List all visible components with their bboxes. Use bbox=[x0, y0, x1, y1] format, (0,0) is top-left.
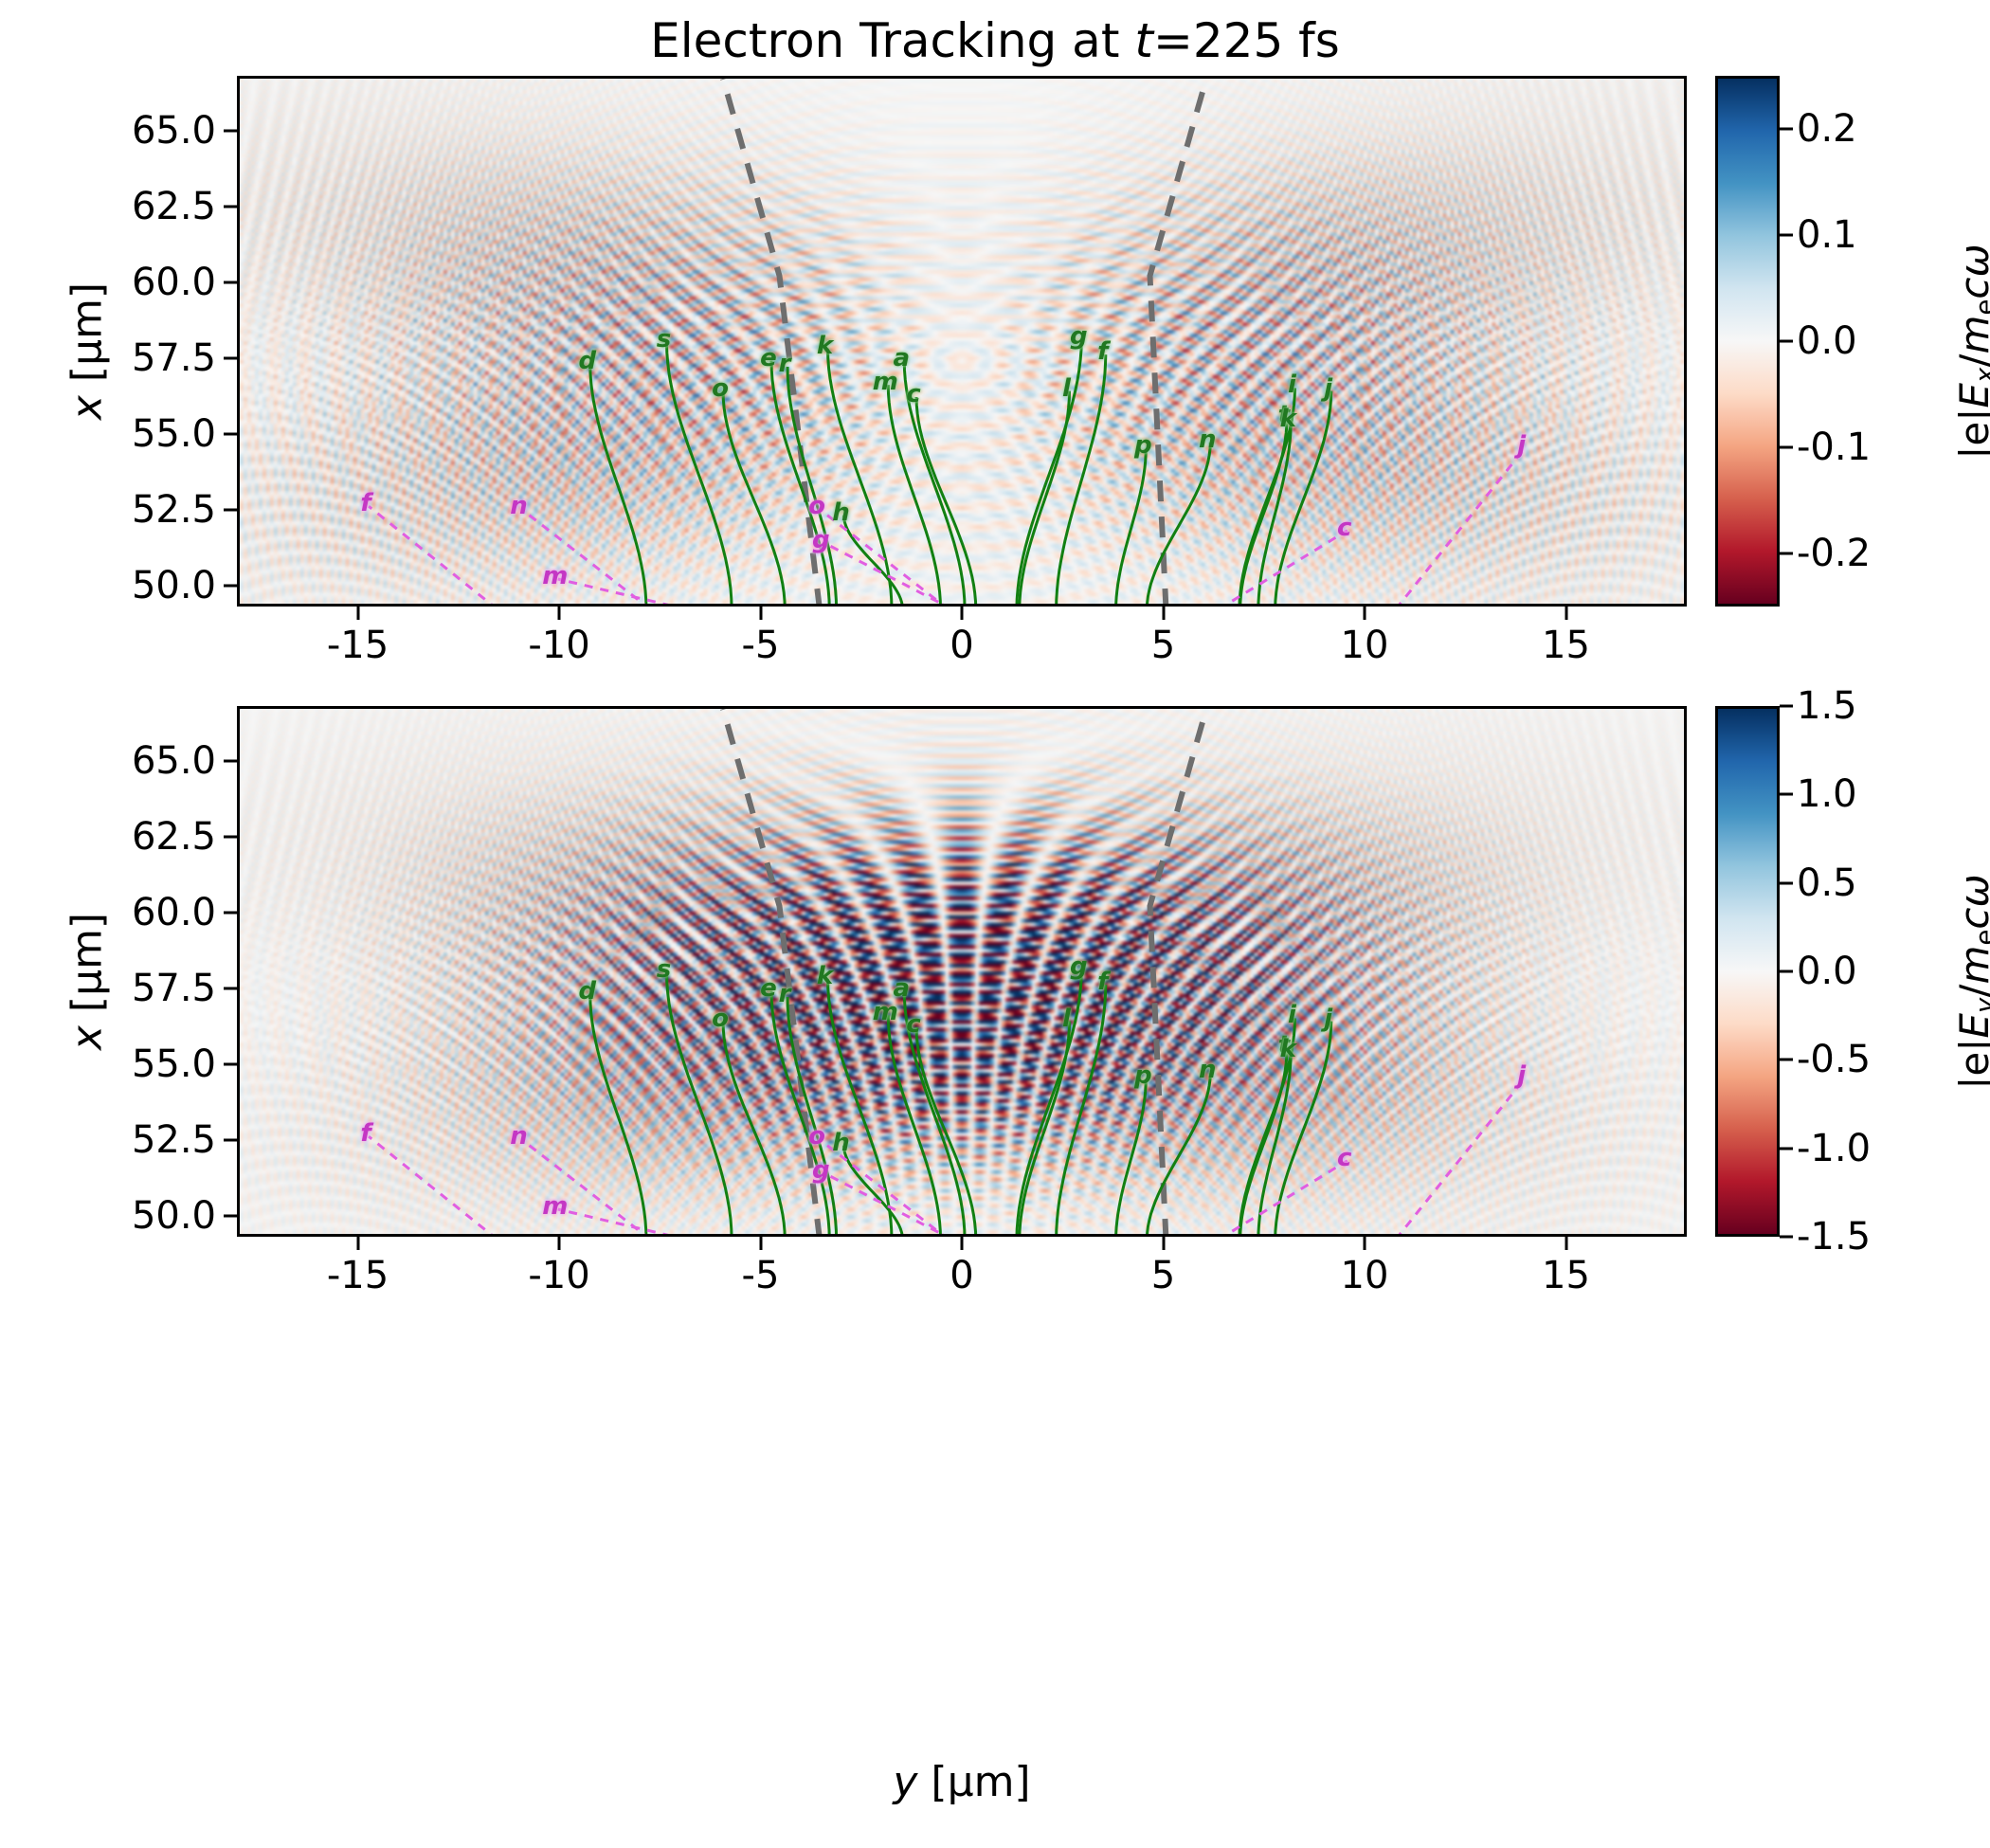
colorbar-tick-mark bbox=[1780, 970, 1793, 973]
colorbar-tick-mark bbox=[1780, 128, 1793, 131]
green-trajectory bbox=[1057, 354, 1106, 607]
green-trajectory bbox=[1240, 1048, 1287, 1237]
y-tick-label: 65.0 bbox=[0, 109, 216, 153]
page-title: Electron Tracking at t=225 fs bbox=[0, 13, 1990, 68]
green-trajectory bbox=[904, 991, 965, 1237]
green-trajectory bbox=[787, 997, 837, 1237]
y-tick-mark bbox=[224, 759, 237, 762]
y-tick-mark bbox=[224, 508, 237, 511]
magenta-trajectory bbox=[558, 579, 687, 607]
green-trajectory bbox=[1057, 985, 1106, 1237]
colorbar-tick-mark bbox=[1780, 1236, 1793, 1239]
y-tick-mark bbox=[224, 835, 237, 838]
y-axis-label-ey: x [µm] bbox=[63, 887, 112, 1077]
x-tick-mark bbox=[558, 607, 561, 620]
green-trajectory bbox=[844, 1146, 903, 1237]
green-trajectory bbox=[1240, 418, 1287, 607]
colorbar-tick-mark bbox=[1780, 340, 1793, 343]
colorbar-tick-mark bbox=[1780, 1059, 1793, 1061]
colorbar-tick-mark bbox=[1780, 553, 1793, 555]
y-tick-label: 52.5 bbox=[0, 488, 216, 532]
green-trajectory bbox=[1275, 391, 1331, 607]
green-trajectory bbox=[667, 342, 733, 607]
y-tick-mark bbox=[224, 281, 237, 283]
magenta-trajectory bbox=[1219, 1161, 1348, 1237]
x-axis-label: y [µm] bbox=[237, 1758, 1687, 1806]
colorbar-tick-label: 0.0 bbox=[1797, 950, 1857, 993]
green-trajectory bbox=[1147, 1073, 1210, 1237]
y-tick-mark bbox=[224, 129, 237, 132]
y-tick-mark bbox=[224, 356, 237, 359]
y-tick-mark bbox=[224, 911, 237, 914]
colorbar-ex[interactable] bbox=[1715, 76, 1780, 607]
track-overlay-ex bbox=[240, 79, 1687, 607]
x-tick-label: 0 bbox=[950, 1254, 973, 1297]
magenta-trajectory bbox=[1396, 1078, 1525, 1237]
x-tick-mark bbox=[356, 607, 359, 620]
x-tick-label: -5 bbox=[742, 1254, 780, 1297]
green-trajectory bbox=[1020, 1022, 1070, 1237]
colorbar-tick-label: 0.1 bbox=[1797, 213, 1857, 257]
x-tick-label: -15 bbox=[327, 1254, 389, 1297]
figure-root: Electron Tracking at t=225 fs 50.052.555… bbox=[0, 0, 1990, 1848]
colorbar-tick-label: -1.0 bbox=[1797, 1127, 1871, 1170]
x-tick-label: 10 bbox=[1341, 1254, 1389, 1297]
y-tick-label: 65.0 bbox=[0, 739, 216, 783]
x-tick-label: 15 bbox=[1542, 624, 1590, 667]
track-overlay-ey bbox=[240, 709, 1687, 1237]
title-value: 225 bbox=[1193, 13, 1283, 68]
y-tick-mark bbox=[224, 432, 237, 435]
colorbar-tick-label: 1.5 bbox=[1797, 684, 1857, 728]
x-tick-label: -10 bbox=[528, 1254, 589, 1297]
green-trajectory bbox=[828, 349, 893, 607]
colorbar-label-ex: |e|Ex/mecω bbox=[1951, 181, 1990, 522]
x-tick-label: -10 bbox=[528, 624, 589, 667]
title-variable: t bbox=[1134, 13, 1153, 68]
y-tick-mark bbox=[224, 1062, 237, 1065]
colorbar-tick-label: -0.1 bbox=[1797, 426, 1871, 469]
green-trajectory bbox=[916, 397, 976, 607]
x-tick-mark bbox=[961, 1237, 964, 1250]
y-tick-mark bbox=[224, 987, 237, 989]
colorbar-ey[interactable] bbox=[1715, 706, 1780, 1237]
green-trajectory bbox=[828, 979, 893, 1237]
green-trajectory bbox=[916, 1027, 976, 1237]
x-tick-mark bbox=[961, 607, 964, 620]
magenta-trajectory bbox=[723, 709, 820, 1237]
colorbar-tick-label: 1.0 bbox=[1797, 772, 1857, 816]
x-tick-mark bbox=[1565, 607, 1567, 620]
colorbar-tick-mark bbox=[1780, 1147, 1793, 1150]
x-tick-label: 10 bbox=[1341, 624, 1389, 667]
green-trajectory bbox=[1116, 1078, 1147, 1237]
green-trajectory bbox=[1017, 339, 1081, 607]
green-trajectory bbox=[1275, 1022, 1331, 1237]
magenta-trajectory bbox=[820, 1139, 949, 1237]
magenta-trajectory bbox=[723, 79, 820, 607]
x-tick-label: 5 bbox=[1151, 1254, 1175, 1297]
x-tick-mark bbox=[1565, 1237, 1567, 1250]
colorbar-tick-label: -0.2 bbox=[1797, 532, 1871, 575]
y-tick-mark bbox=[224, 584, 237, 587]
x-tick-label: -5 bbox=[742, 624, 780, 667]
colorbar-tick-mark bbox=[1780, 234, 1793, 237]
y-tick-label: 62.5 bbox=[0, 185, 216, 228]
magenta-trajectory bbox=[369, 1136, 497, 1237]
y-tick-mark bbox=[224, 205, 237, 208]
y-tick-mark bbox=[224, 1214, 237, 1217]
x-tick-mark bbox=[356, 1237, 359, 1250]
x-tick-mark bbox=[759, 607, 762, 620]
title-unit: fs bbox=[1283, 13, 1340, 68]
colorbar-tick-mark bbox=[1780, 705, 1793, 708]
x-tick-label: 15 bbox=[1542, 1254, 1590, 1297]
green-trajectory bbox=[844, 516, 903, 607]
green-trajectory bbox=[1020, 391, 1070, 607]
magenta-trajectory bbox=[1396, 448, 1525, 607]
colorbar-tick-label: -1.5 bbox=[1797, 1215, 1871, 1259]
colorbar-tick-label: -0.5 bbox=[1797, 1038, 1871, 1081]
y-tick-label: 52.5 bbox=[0, 1118, 216, 1162]
green-trajectory bbox=[888, 385, 940, 607]
magenta-trajectory bbox=[820, 509, 949, 607]
x-tick-mark bbox=[1364, 607, 1366, 620]
x-tick-mark bbox=[1162, 1237, 1165, 1250]
plot-area-ex[interactable] bbox=[237, 76, 1687, 607]
magenta-trajectory bbox=[1219, 531, 1348, 607]
y-tick-label: 50.0 bbox=[0, 1194, 216, 1238]
colorbar-tick-label: 0.5 bbox=[1797, 861, 1857, 905]
y-tick-mark bbox=[224, 1138, 237, 1141]
x-tick-mark bbox=[1364, 1237, 1366, 1250]
x-tick-mark bbox=[558, 1237, 561, 1250]
green-trajectory bbox=[1017, 969, 1081, 1237]
y-tick-label: 50.0 bbox=[0, 564, 216, 607]
green-trajectory bbox=[888, 1015, 940, 1237]
green-trajectory bbox=[787, 367, 837, 607]
colorbar-label-ey: |e|Ey/mecω bbox=[1951, 811, 1990, 1152]
colorbar-tick-label: 0.2 bbox=[1797, 107, 1857, 151]
green-trajectory bbox=[1147, 443, 1210, 607]
colorbar-tick-mark bbox=[1780, 793, 1793, 796]
colorbar-tick-label: 0.0 bbox=[1797, 319, 1857, 363]
magenta-trajectory bbox=[558, 1209, 687, 1237]
green-trajectory bbox=[904, 361, 965, 607]
colorbar-tick-mark bbox=[1780, 881, 1793, 884]
green-trajectory bbox=[667, 972, 733, 1237]
x-tick-label: -15 bbox=[327, 624, 389, 667]
title-prefix: Electron Tracking at bbox=[650, 13, 1134, 68]
x-tick-label: 0 bbox=[950, 624, 973, 667]
y-tick-label: 62.5 bbox=[0, 815, 216, 859]
green-trajectory bbox=[1116, 448, 1147, 607]
green-trajectory bbox=[723, 1022, 785, 1237]
plot-area-ey[interactable] bbox=[237, 706, 1687, 1237]
magenta-trajectory bbox=[369, 506, 497, 607]
title-equals: = bbox=[1153, 13, 1193, 68]
colorbar-tick-mark bbox=[1780, 446, 1793, 449]
green-trajectory bbox=[723, 391, 785, 607]
x-tick-mark bbox=[759, 1237, 762, 1250]
x-tick-label: 5 bbox=[1151, 624, 1175, 667]
x-tick-mark bbox=[1162, 607, 1165, 620]
y-axis-label-ex: x [µm] bbox=[63, 257, 112, 446]
